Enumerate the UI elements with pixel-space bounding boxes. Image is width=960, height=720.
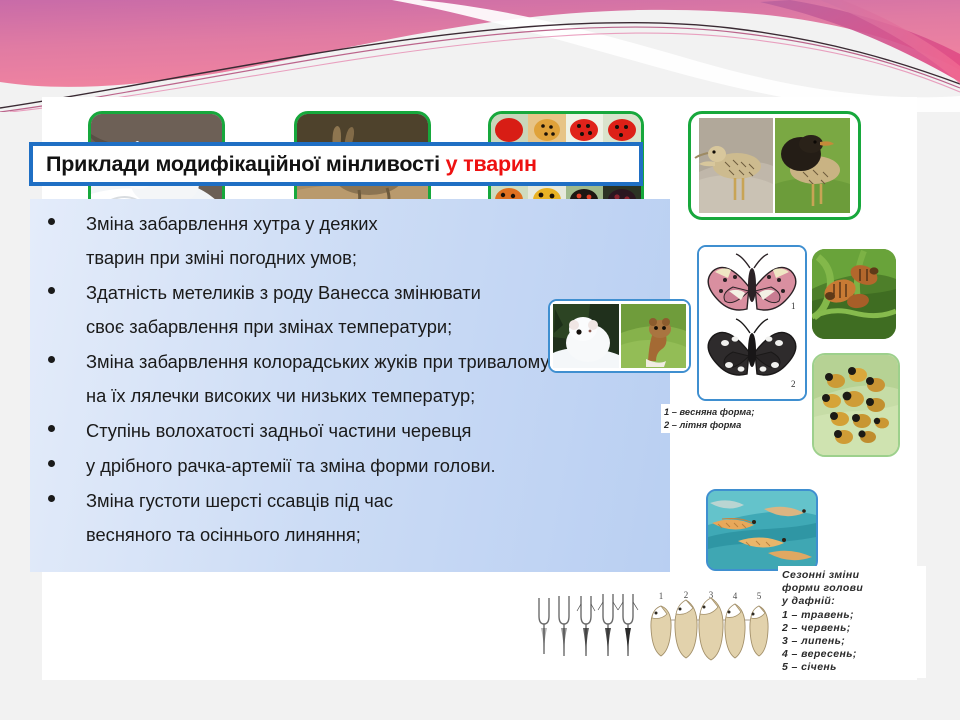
bullet-dot-icon: [48, 218, 55, 225]
bullet-dot-icon: [48, 287, 55, 294]
artemia-brine-shrimp-illustration: [708, 491, 816, 569]
caption-butterfly-forms: 1 – весняна форма; 2 – літня форма: [661, 404, 785, 433]
colorado-beetles-on-plant-illustration: [812, 249, 896, 339]
vanessa-butterfly-forms-diagram: 1 2: [699, 247, 805, 399]
bullet-line-2: тварин при зміні погодних умов;: [86, 241, 670, 275]
bullet-list-box: Зміна забарвлення хутра у деяких тварин …: [30, 199, 670, 572]
svg-text:1: 1: [659, 591, 664, 601]
page-title: Приклади модифікаційної мінливості у тва…: [33, 152, 537, 177]
photo-artemia: [706, 489, 818, 571]
photo-ruff-birds: [688, 111, 861, 220]
svg-text:2: 2: [791, 379, 796, 389]
bullet-dot-icon: [48, 495, 55, 502]
list-item: у дрібного рачка-артемії та зміна форми …: [30, 449, 670, 483]
caption-line: 3 – липень;: [782, 635, 922, 648]
caption-line: 4 – вересень;: [782, 648, 922, 661]
diagram-abdomen-bristles: [527, 588, 639, 666]
bullet-line-2: весняного та осіннього линяння;: [86, 518, 670, 552]
svg-text:2: 2: [684, 590, 689, 600]
caption-line: 1 – травень;: [782, 609, 922, 622]
daphnia-head-shapes-illustration: 123 45: [645, 588, 773, 670]
caption-line: 2 – червень;: [782, 622, 922, 635]
artemia-abdomen-bristles-illustration: [527, 588, 639, 666]
caption-line: 2 – літня форма: [664, 419, 782, 432]
svg-text:5: 5: [757, 591, 762, 601]
list-item: Зміна забарвлення хутра у деяких тварин …: [30, 207, 670, 275]
bullet-line-2: на їх лялечки високих чи низьких темпера…: [86, 379, 670, 413]
bullet-dot-icon: [48, 460, 55, 467]
photo-butterflies-vanessa: 1 2: [697, 245, 807, 401]
bullet-line-1: Зміна забарвлення колорадських жуків при…: [86, 351, 609, 372]
bullet-line-1: Здатність метеликів з роду Ванесса зміню…: [86, 282, 481, 303]
header-swoosh-graphic: [0, 0, 960, 112]
caption-line: Сезонні зміни: [782, 569, 922, 582]
bullet-dot-icon: [48, 356, 55, 363]
bullet-line-1: Зміна густоти шерсті ссавців під час: [86, 490, 393, 511]
bullet-line-1: у дрібного рачка-артемії та зміна форми …: [86, 455, 496, 476]
ruff-birds-illustration: [691, 114, 858, 217]
colorado-beetle-larvae-illustration: [814, 355, 898, 455]
list-item: Ступінь волохатості задньої частини чере…: [30, 414, 670, 448]
photo-beetle-larvae: [812, 353, 900, 457]
svg-text:1: 1: [791, 301, 796, 311]
decorative-header-banner: [0, 0, 960, 112]
svg-text:4: 4: [733, 591, 738, 601]
bullet-list: Зміна забарвлення хутра у деяких тварин …: [30, 199, 670, 552]
list-item: Зміна густоти шерсті ссавців під час вес…: [30, 484, 670, 552]
diagram-daphnia-heads: 123 45: [645, 588, 773, 670]
caption-line: 1 – весняна форма;: [664, 406, 782, 419]
slide-title-box: Приклади модифікаційної мінливості у тва…: [29, 142, 643, 186]
photo-colorado-beetles: [812, 249, 896, 339]
caption-line: 5 – січень: [782, 661, 922, 674]
caption-daphnia-seasonal: Сезонні зміни форми голови у дафній: 1 –…: [778, 566, 926, 678]
photo-ermine-pair: [548, 299, 691, 373]
bullet-dot-icon: [48, 425, 55, 432]
title-main-text: Приклади модифікаційної мінливості: [46, 152, 440, 176]
caption-line: у дафній:: [782, 595, 922, 608]
caption-line: форми голови: [782, 582, 922, 595]
ermine-winter-summer-illustration: [550, 301, 689, 371]
title-accent-text: у тварин: [446, 152, 537, 176]
bullet-line-1: Ступінь волохатості задньої частини чере…: [86, 420, 471, 441]
bullet-line-1: Зміна забарвлення хутра у деяких: [86, 213, 378, 234]
